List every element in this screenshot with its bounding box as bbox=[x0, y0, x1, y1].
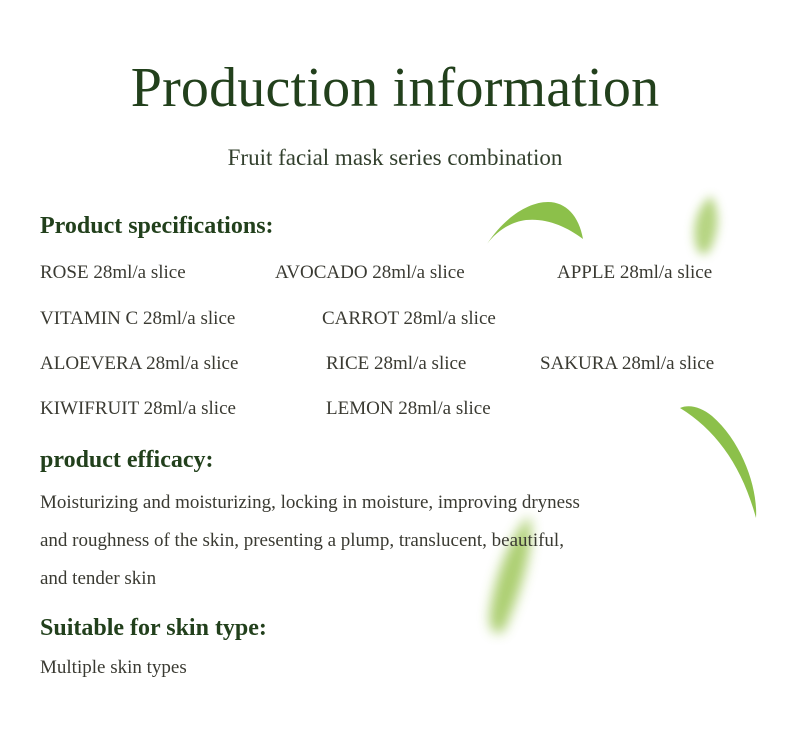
efficacy-line: and tender skin bbox=[40, 560, 755, 598]
spec-item: ROSE 28ml/a slice bbox=[40, 260, 186, 286]
spec-row: ROSE 28ml/a slice AVOCADO 28ml/a slice A… bbox=[0, 260, 790, 286]
leaf-arc-icon bbox=[486, 196, 584, 246]
spec-item: KIWIFRUIT 28ml/a slice bbox=[40, 396, 236, 422]
skin-type-value: Multiple skin types bbox=[40, 655, 187, 681]
specifications-heading: Product specifications: bbox=[40, 213, 274, 240]
spec-item: ALOEVERA 28ml/a slice bbox=[40, 351, 238, 377]
spec-item: AVOCADO 28ml/a slice bbox=[275, 260, 465, 286]
efficacy-heading: product efficacy: bbox=[40, 447, 214, 474]
spec-item: APPLE 28ml/a slice bbox=[557, 260, 712, 286]
spec-item: RICE 28ml/a slice bbox=[326, 351, 466, 377]
skin-type-heading: Suitable for skin type: bbox=[40, 615, 267, 642]
leaf-soft-top-icon bbox=[684, 194, 728, 258]
product-information-page: Production information Fruit facial mask… bbox=[0, 0, 790, 738]
spec-row: ALOEVERA 28ml/a slice RICE 28ml/a slice … bbox=[0, 351, 790, 377]
spec-row: VITAMIN C 28ml/a slice CARROT 28ml/a sli… bbox=[0, 306, 790, 332]
efficacy-line: and roughness of the skin, presenting a … bbox=[40, 522, 755, 560]
spec-item: LEMON 28ml/a slice bbox=[326, 396, 491, 422]
spec-item: SAKURA 28ml/a slice bbox=[540, 351, 714, 377]
spec-item: VITAMIN C 28ml/a slice bbox=[40, 306, 235, 332]
spec-row: KIWIFRUIT 28ml/a slice LEMON 28ml/a slic… bbox=[0, 396, 790, 422]
efficacy-text: Moisturizing and moisturizing, locking i… bbox=[40, 484, 755, 598]
page-title: Production information bbox=[0, 60, 790, 116]
spec-item: CARROT 28ml/a slice bbox=[322, 306, 496, 332]
efficacy-line: Moisturizing and moisturizing, locking i… bbox=[40, 484, 755, 522]
page-subtitle: Fruit facial mask series combination bbox=[0, 144, 790, 172]
